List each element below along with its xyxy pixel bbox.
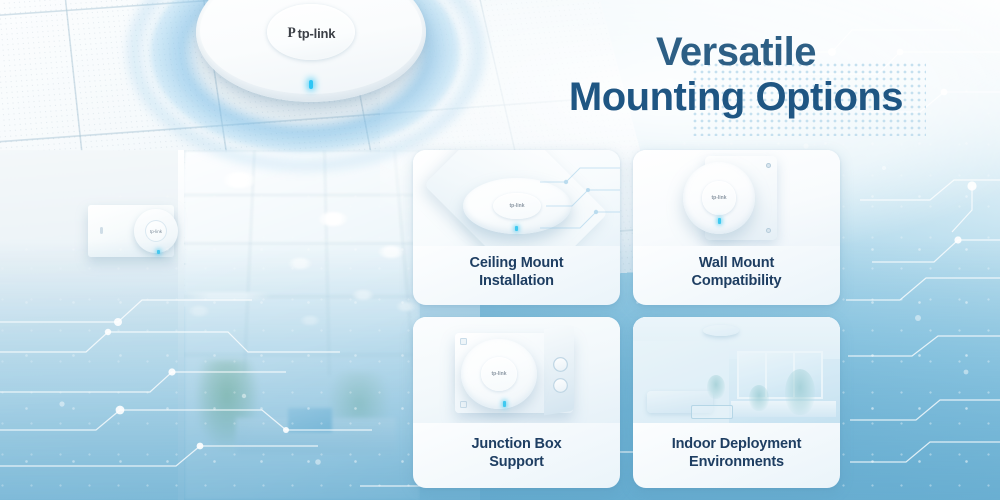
mounting-tab — [460, 401, 467, 408]
ceiling-mount-illustration: tp-link — [413, 150, 620, 246]
feature-card-grid: tp-link Ceili — [413, 150, 841, 488]
recessed-light — [222, 172, 256, 188]
tp-link-logo-icon: tp-link — [702, 181, 735, 214]
wall-mount-thumbnail: tp-link — [633, 150, 840, 246]
knockout-icon — [553, 357, 568, 372]
hero-led-indicator — [309, 80, 313, 89]
led-indicator — [515, 226, 518, 231]
feature-card-indoor-deployment[interactable]: Indoor Deployment Environments — [633, 317, 840, 488]
hero-access-point: Ptp-link — [196, 0, 426, 102]
led-indicator — [503, 401, 506, 407]
junction-box-thumbnail: tp-link — [413, 317, 620, 423]
headline-line-2: Mounting Options — [536, 75, 936, 120]
blue-tint-overlay — [633, 317, 840, 423]
card-caption: Ceiling Mount Installation — [419, 254, 614, 291]
junction-box-illustration: tp-link — [413, 317, 620, 423]
living-room-illustration — [633, 317, 840, 423]
knockout-icon — [553, 378, 568, 393]
ceiling-mount-thumbnail: tp-link — [413, 150, 620, 246]
screw-hole-icon — [766, 163, 771, 168]
card-caption-line-1: Ceiling Mount — [470, 255, 564, 271]
feature-card-junction-box[interactable]: tp-link Junction Box Support — [413, 317, 620, 488]
recessed-light — [318, 212, 348, 226]
card-caption-line-1: Wall Mount — [699, 255, 774, 271]
access-point-disc: tp-link — [461, 339, 537, 409]
card-caption-line-1: Junction Box — [471, 436, 561, 452]
tp-link-logo-icon: Ptp-link — [287, 25, 336, 42]
card-caption-line-1: Indoor Deployment — [672, 436, 802, 452]
feature-card-wall-mount[interactable]: tp-link Wall Mount Compatibility — [633, 150, 840, 305]
indoor-deployment-thumbnail — [633, 317, 840, 423]
screw-hole-icon — [766, 228, 771, 233]
card-circuit-accent — [540, 162, 620, 246]
promo-banner: tp-link — [0, 0, 1000, 500]
page-title: Versatile Mounting Options — [536, 30, 936, 120]
tp-link-logo-icon: tp-link — [481, 357, 517, 391]
led-indicator — [718, 218, 721, 224]
card-caption-line-2: Compatibility — [692, 273, 782, 289]
card-caption: Wall Mount Compatibility — [639, 254, 834, 291]
card-caption: Indoor Deployment Environments — [639, 435, 834, 472]
wall-mount-illustration: tp-link — [633, 150, 840, 246]
card-caption-line-2: Installation — [479, 273, 554, 289]
tp-link-logo-icon: tp-link — [145, 220, 167, 242]
bracket-slot — [100, 227, 103, 234]
card-caption-line-2: Support — [489, 454, 544, 470]
mounting-tab — [460, 338, 467, 345]
card-caption: Junction Box Support — [419, 435, 614, 472]
hero-ap-dome: Ptp-link — [267, 4, 354, 60]
tp-link-logo-icon: tp-link — [493, 193, 541, 220]
headline-line-1: Versatile — [536, 30, 936, 75]
card-caption-line-2: Environments — [689, 454, 784, 470]
feature-card-ceiling-mount[interactable]: tp-link Ceili — [413, 150, 620, 305]
